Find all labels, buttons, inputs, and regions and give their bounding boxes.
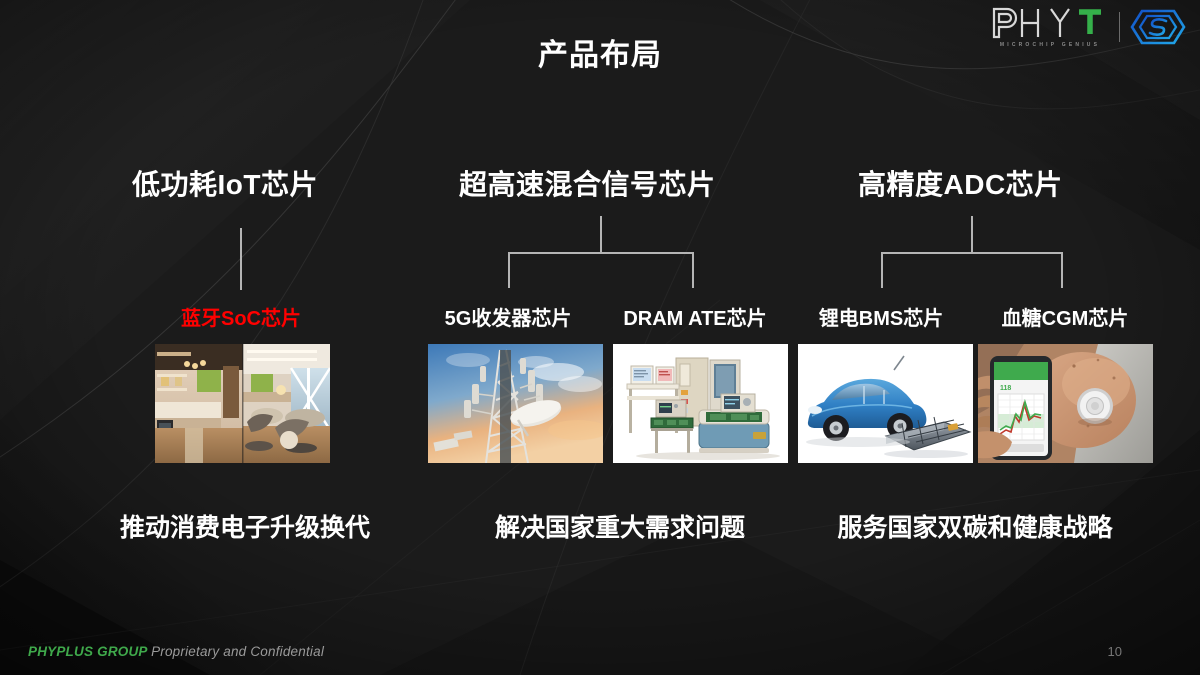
connector-adc-left-drop (881, 252, 883, 288)
connector-adc-bar (881, 252, 1063, 254)
footer-confidential-label: Proprietary and Confidential (151, 644, 324, 659)
image-cgm-sensor-phone: 118 (978, 344, 1153, 463)
footer-brand: PHYPLUS GROUP (28, 644, 147, 659)
footer-bar: PHYPLUS GROUP Proprietary and Confidenti… (0, 631, 1200, 675)
sub-label-glucose-cgm: 血糖CGM芯片 (980, 302, 1150, 331)
caption-low-power-iot: 推动消费电子升级换代 (75, 508, 415, 544)
footer-confidential-notice: PHYPLUS GROUP Proprietary and Confidenti… (28, 644, 324, 659)
connector-low-power-iot-stem (240, 228, 242, 290)
connector-adc-stem (971, 216, 973, 253)
image-smart-home-interior (155, 344, 330, 463)
sub-label-lithium-bms: 锂电BMS芯片 (798, 302, 964, 331)
caption-high-precision-adc: 服务国家双碳和健康战略 (790, 508, 1160, 544)
image-cell-tower (428, 344, 603, 463)
branch-heading-high-precision-adc: 高精度ADC芯片 (858, 163, 1063, 203)
connector-mixed-signal-left-drop (508, 252, 510, 288)
page-number: 10 (1108, 644, 1122, 659)
image-electric-vehicle-battery (798, 344, 973, 463)
page-title: 产品布局 (0, 30, 1200, 74)
connector-mixed-signal-right-drop (692, 252, 694, 288)
branch-heading-high-speed-mixed-signal: 超高速混合信号芯片 (459, 163, 716, 203)
sub-label-5g-transceiver: 5G收发器芯片 (428, 302, 588, 331)
image-ate-test-equipment (613, 344, 788, 463)
connector-mixed-signal-bar (508, 252, 694, 254)
svg-text:118: 118 (1000, 385, 1011, 392)
connector-adc-right-drop (1061, 252, 1063, 288)
caption-high-speed-mixed-signal: 解决国家重大需求问题 (455, 508, 785, 544)
connector-mixed-signal-stem (600, 216, 602, 253)
sub-label-bluetooth-soc: 蓝牙SoC芯片 (158, 302, 324, 331)
branch-heading-low-power-iot: 低功耗IoT芯片 (132, 163, 318, 203)
sub-label-dram-ate: DRAM ATE芯片 (610, 302, 780, 331)
